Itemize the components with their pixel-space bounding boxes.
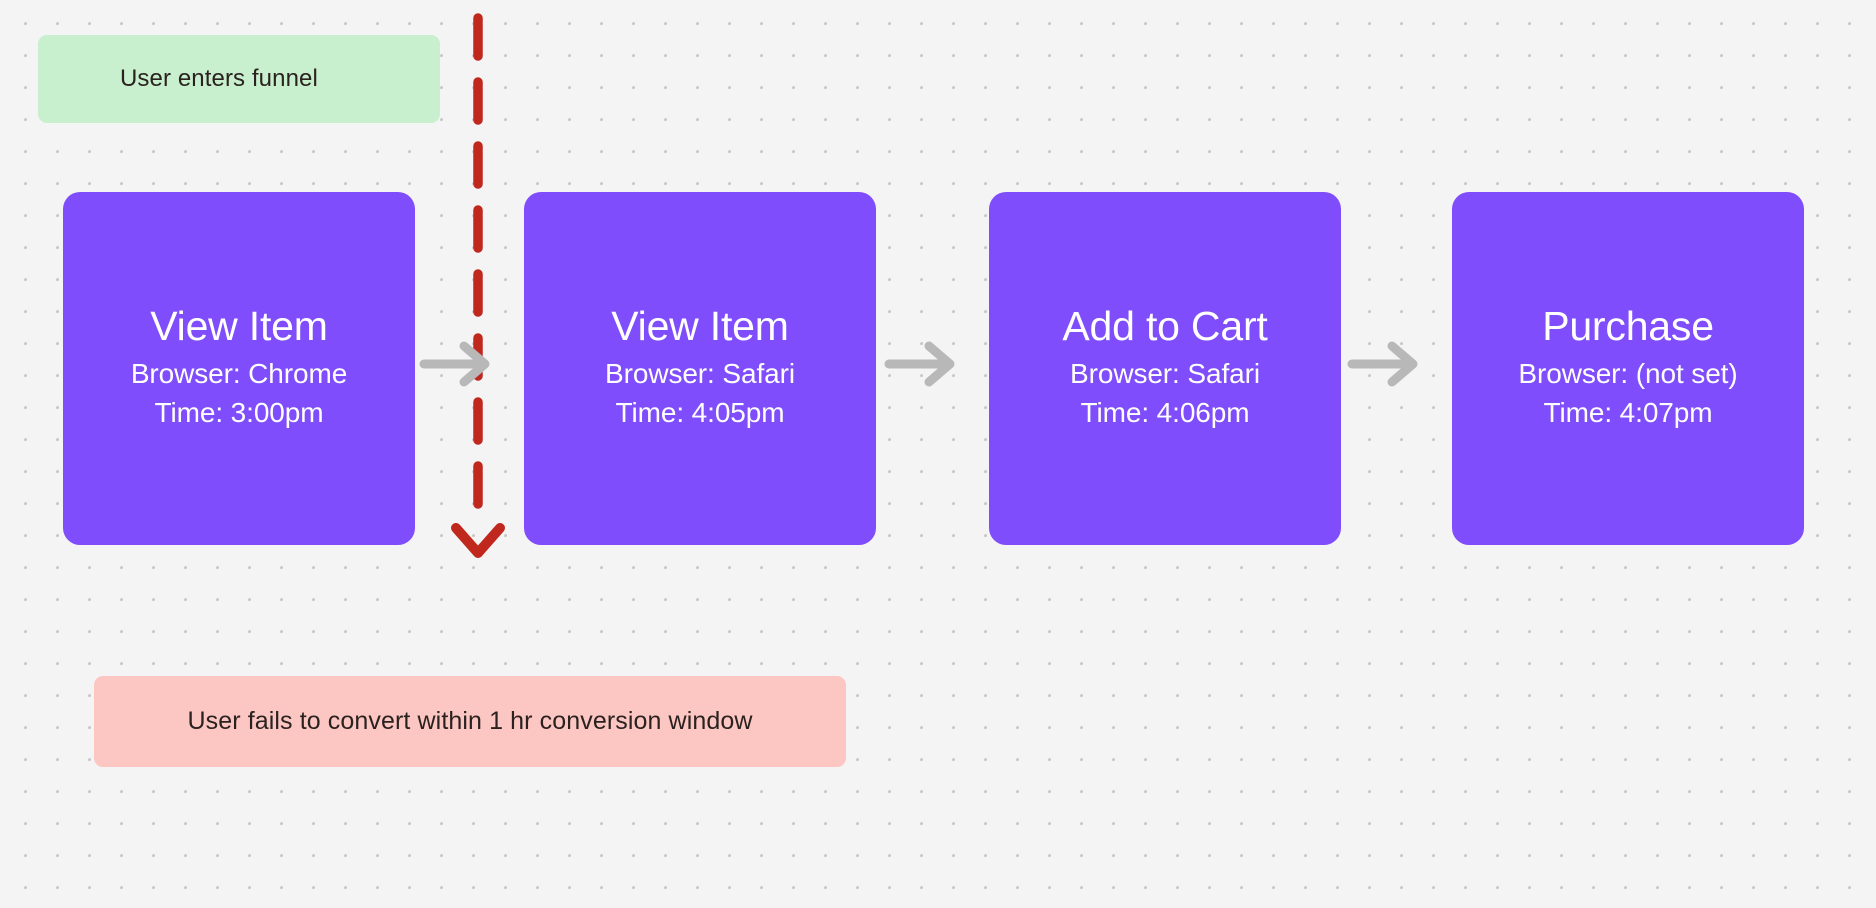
step-browser: Browser: Safari (1070, 354, 1260, 394)
step-browser: Browser: (not set) (1518, 354, 1737, 394)
funnel-step-card[interactable]: View Item Browser: Chrome Time: 3:00pm (63, 192, 415, 545)
step-title: View Item (150, 304, 327, 350)
entry-annotation-label: User enters funnel (120, 65, 318, 93)
connector-arrow-2 (884, 340, 964, 388)
step-browser: Browser: Chrome (131, 354, 347, 394)
step-title: Add to Cart (1062, 304, 1267, 350)
step-browser: Browser: Safari (605, 354, 795, 394)
funnel-step-card[interactable]: Add to Cart Browser: Safari Time: 4:06pm (989, 192, 1341, 545)
arrow-right-icon (419, 340, 499, 388)
arrow-right-icon (1347, 340, 1427, 388)
step-title: Purchase (1542, 304, 1714, 350)
funnel-step-card[interactable]: View Item Browser: Safari Time: 4:05pm (524, 192, 876, 545)
arrow-right-icon (884, 340, 964, 388)
diagram-canvas: User enters funnel User fails to convert… (0, 0, 1876, 908)
funnel-step-card[interactable]: Purchase Browser: (not set) Time: 4:07pm (1452, 192, 1804, 545)
step-time: Time: 3:00pm (155, 393, 324, 433)
connector-arrow-3 (1347, 340, 1427, 388)
step-time: Time: 4:06pm (1081, 393, 1250, 433)
failure-annotation-box: User fails to convert within 1 hr conver… (94, 676, 846, 767)
step-time: Time: 4:07pm (1544, 393, 1713, 433)
step-title: View Item (611, 304, 788, 350)
step-time: Time: 4:05pm (616, 393, 785, 433)
connector-arrow-1 (419, 340, 499, 388)
entry-annotation-box: User enters funnel (38, 35, 440, 123)
failure-annotation-label: User fails to convert within 1 hr conver… (187, 707, 752, 736)
